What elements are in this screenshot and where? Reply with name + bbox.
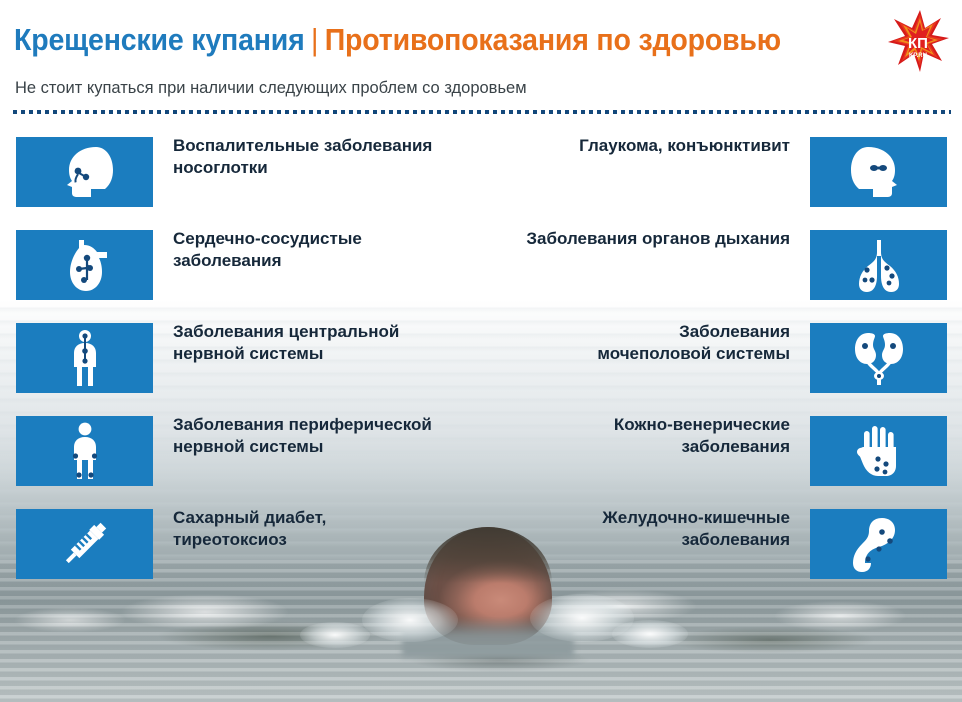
tile-lungs <box>810 230 947 300</box>
infographic-poster: Крещенские купания|Противопоказания по з… <box>0 0 962 702</box>
label-row-5-left: Сахарный диабет, тиреотоксиоз <box>173 507 503 551</box>
tile-heart-vessels <box>16 230 153 300</box>
stomach-icon <box>852 516 906 572</box>
label-line: тиреотоксиоз <box>173 529 503 551</box>
kidneys-icon <box>850 330 908 386</box>
label-line: Заболевания периферической <box>173 414 503 436</box>
row-1: Воспалительные заболевания носоглотки Гл… <box>0 137 962 207</box>
lungs-icon <box>851 238 907 292</box>
row-3: Заболевания центральной нервной системы … <box>0 323 962 393</box>
label-row-4-left: Заболевания периферической нервной систе… <box>173 414 503 458</box>
head-eye-icon <box>850 145 908 199</box>
label-line: заболевания <box>470 529 790 551</box>
label-line: заболевания <box>173 250 503 272</box>
label-line: Заболевания <box>470 321 790 343</box>
label-line: Воспалительные заболевания <box>173 135 503 157</box>
head-nasopharynx-icon <box>56 145 114 199</box>
label-line: нервной системы <box>173 436 503 458</box>
title-part-blue: Крещенские купания <box>14 22 305 57</box>
tile-central-nervous-system <box>16 323 153 393</box>
title-separator: | <box>305 22 325 57</box>
label-row-3-left: Заболевания центральной нервной системы <box>173 321 503 365</box>
row-5: Сахарный диабет, тиреотоксиоз Желудочно-… <box>0 509 962 579</box>
syringe-icon <box>56 516 114 572</box>
tile-stomach <box>810 509 947 579</box>
label-line: мочеполовой системы <box>470 343 790 365</box>
label-line: Желудочно-кишечные <box>470 507 790 529</box>
page-subtitle: Не стоит купаться при наличии следующих … <box>15 79 527 98</box>
label-row-5-right: Желудочно-кишечные заболевания <box>470 507 790 551</box>
tile-head-nasopharynx <box>16 137 153 207</box>
kp-star-icon: КП KP.RU <box>886 8 950 80</box>
label-row-2-left: Сердечно-сосудистые заболевания <box>173 228 503 272</box>
tile-head-eye <box>810 137 947 207</box>
label-line: Сахарный диабет, <box>173 507 503 529</box>
kp-logo[interactable]: КП KP.RU <box>886 8 950 80</box>
label-line: Сердечно-сосудистые <box>173 228 503 250</box>
dotted-divider <box>13 110 951 114</box>
svg-text:KP.RU: KP.RU <box>909 53 927 59</box>
label-row-3-right: Заболевания мочеполовой системы <box>470 321 790 365</box>
row-2: Сердечно-сосудистые заболевания Заболева… <box>0 230 962 300</box>
label-line: Заболевания центральной <box>173 321 503 343</box>
tile-syringe <box>16 509 153 579</box>
hand-skin-icon <box>855 423 903 479</box>
tile-hand-skin <box>810 416 947 486</box>
label-row-1-left: Воспалительные заболевания носоглотки <box>173 135 503 179</box>
svg-text:КП: КП <box>908 35 928 52</box>
row-4: Заболевания периферической нервной систе… <box>0 416 962 486</box>
label-line: заболевания <box>470 436 790 458</box>
title-part-orange: Противопоказания по здоровью <box>325 22 781 57</box>
page-title: Крещенские купания|Противопоказания по з… <box>14 22 781 58</box>
tile-peripheral-nervous-system <box>16 416 153 486</box>
label-row-1-right: Глаукома, конъюнктивит <box>470 135 790 157</box>
label-line: нервной системы <box>173 343 503 365</box>
heart-vessels-icon <box>57 237 113 293</box>
label-line: Глаукома, конъюнктивит <box>470 135 790 157</box>
header: Крещенские купания|Противопоказания по з… <box>0 0 962 118</box>
central-nervous-system-icon <box>65 329 105 387</box>
label-line: носоглотки <box>173 157 503 179</box>
label-line: Кожно-венерические <box>470 414 790 436</box>
tile-kidneys <box>810 323 947 393</box>
label-row-2-right: Заболевания органов дыхания <box>470 228 790 250</box>
peripheral-nervous-system-icon <box>65 422 105 480</box>
label-line: Заболевания органов дыхания <box>470 228 790 250</box>
label-row-4-right: Кожно-венерические заболевания <box>470 414 790 458</box>
